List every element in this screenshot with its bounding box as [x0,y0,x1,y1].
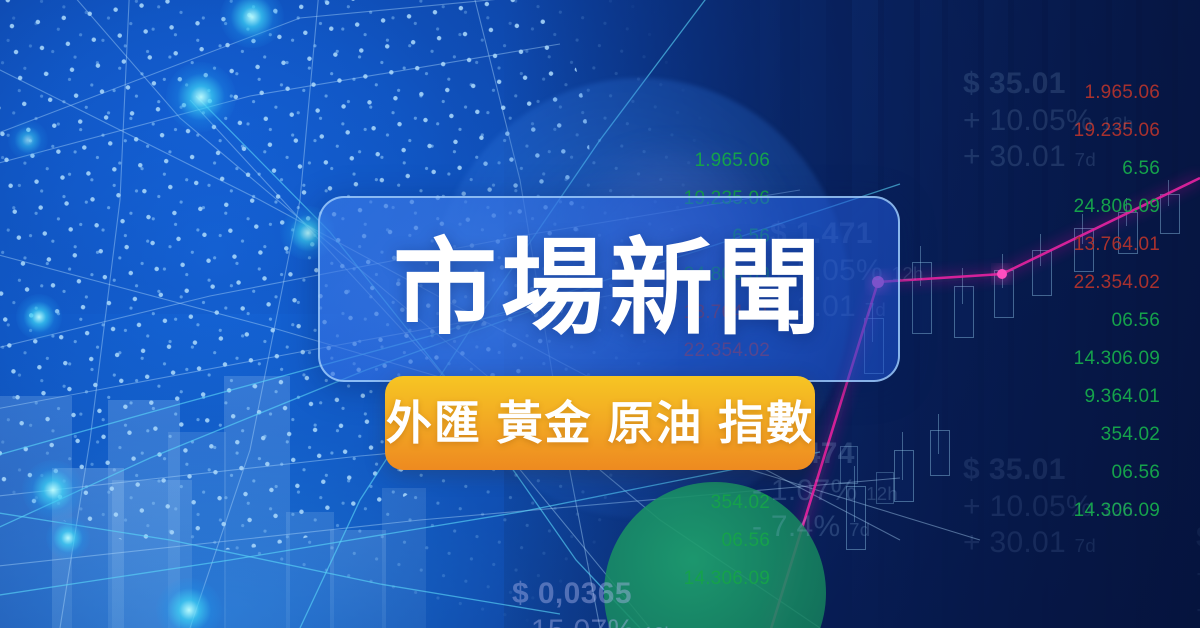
quote-price: $ 2.41 [1196,520,1200,557]
quote-top-right: $ 35.01+ 10.05% 12h+ 30.01 7d [963,66,1134,176]
quote-change-12h-value: + 10.05% [963,104,1093,137]
quote-price: $ 35.01 [963,452,1134,489]
ticker-value: 1.965.06 [694,150,770,172]
quote-change-7d-value: + 2.01 [1196,594,1200,627]
quote-change-12h: - 15.07% 12h [512,613,675,628]
quote-change-7d-label: 7d [849,519,870,540]
quote-change-12h-value: - 1.07% [752,474,858,507]
quote-change-7d-value: + 30.01 [963,526,1066,559]
quote-bottom-left: $ 0,0365- 15.07% 12h- 42.4% 7d [512,576,675,628]
quote-change-7d-value: + 30.01 [963,140,1066,173]
quote-change-12h-label: 12h [1102,113,1134,134]
category-badge-label: 外匯 黃金 原油 指數 [386,400,814,446]
ticker-value: 24.806.09 [1074,196,1160,218]
hero-banner: 1.965.0619.235.066.5624.806.0913.764.012… [0,0,1200,628]
ticker-value: 06.56 [1111,310,1160,332]
ticker-value: 14.306.09 [684,568,770,590]
quote-price: $ 35.01 [963,66,1134,103]
ticker-value: 9.364.01 [1084,386,1160,408]
quote-change-12h-label: 12h [866,483,898,504]
quote-change-12h: + 10.05% 12h [963,489,1134,526]
quote-change-12h-value: + 7.05% [1196,558,1200,591]
quote-far-right: $ 2.41+ 7.05% 12h+ 2.01 7d [1196,520,1200,628]
ticker-value: 14.306.09 [1074,348,1160,370]
page-title: 市場新聞 [393,237,825,341]
quote-change-7d-label: 7d [1075,535,1096,556]
quote-change-12h-label: 12h [1102,499,1134,520]
title-card: 市場新聞 [318,196,900,382]
quote-change-12h-value: - 15.07% [512,614,634,628]
quote-price: $ 0,0365 [512,576,675,613]
ticker-value: 13.764.01 [1074,234,1160,256]
quote-change-12h-label: 12h [643,623,675,628]
quote-change-7d-label: 7d [1075,149,1096,170]
quote-change-12h: + 10.05% 12h [963,103,1134,140]
quote-change-7d: + 30.01 7d [963,525,1134,562]
quote-change-7d: + 30.01 7d [963,139,1134,176]
quote-change-7d-value: - 7.4% [752,510,841,543]
quote-change-7d: + 2.01 7d [1196,593,1200,628]
ticker-value: 22.354.02 [1074,272,1160,294]
quote-bottom-right: $ 35.01+ 10.05% 12h+ 30.01 7d [963,452,1134,562]
quote-change-12h-value: + 10.05% [963,490,1093,523]
quote-change-12h: + 7.05% 12h [1196,557,1200,594]
category-badge[interactable]: 外匯 黃金 原油 指數 [385,376,815,470]
ticker-value: 354.02 [1101,424,1160,446]
quote-change-7d: - 7.4% 7d [752,509,898,546]
quote-change-12h: - 1.07% 12h [752,473,898,510]
